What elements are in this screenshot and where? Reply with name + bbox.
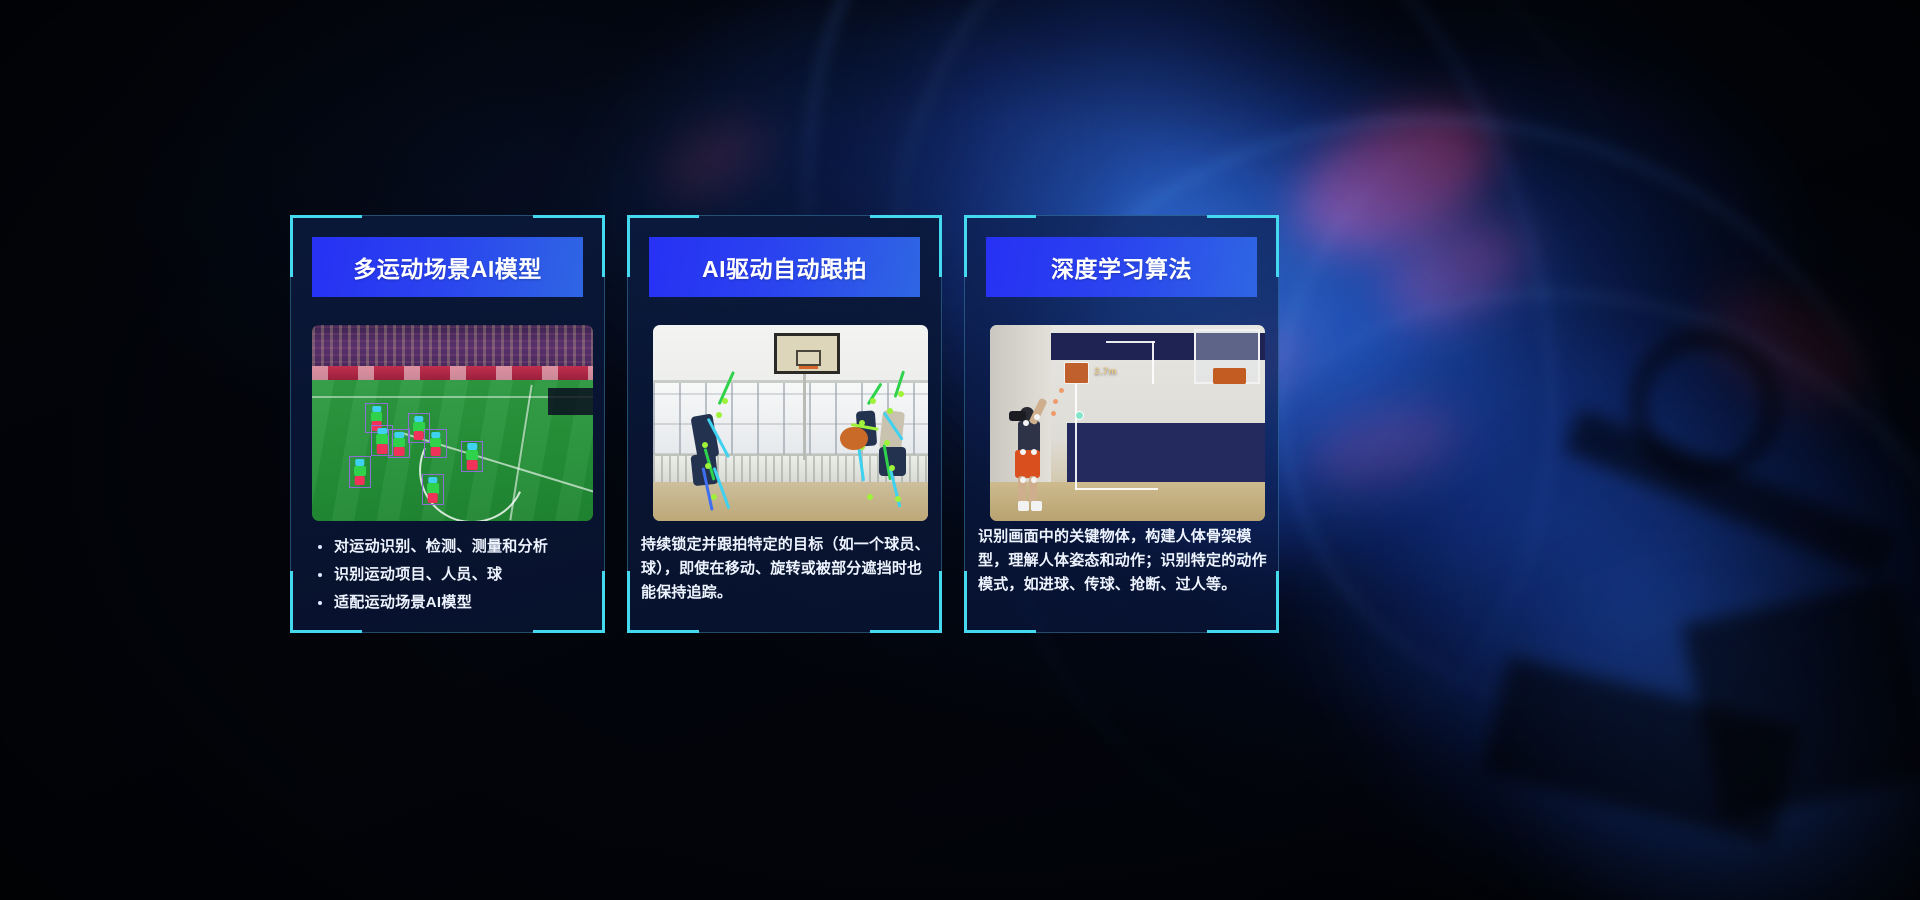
advertising-board <box>312 366 593 380</box>
player-detection-box <box>388 429 410 458</box>
feature-card-multi-sport-ai-model[interactable]: 多运动场景AI模型 <box>290 215 605 633</box>
card-media-soccer-pitch-detection-thumbnail[interactable] <box>312 325 593 521</box>
player-shoe <box>1031 501 1042 511</box>
feature-bullet-list: 对运动识别、检测、测量和分析 识别运动项目、人员、球 适配运动场景AI模型 <box>312 535 589 614</box>
player-shoe <box>1018 501 1029 511</box>
list-item: 识别运动项目、人员、球 <box>312 563 589 586</box>
feature-card-group: 多运动场景AI模型 <box>290 215 1280 633</box>
joint <box>870 398 876 404</box>
shooting-player <box>990 325 1265 521</box>
basketball <box>840 427 868 451</box>
card-body: 持续锁定并跟拍特定的目标（如一个球员、球），即使在移动、旋转或被部分遮挡时也能保… <box>641 533 930 605</box>
card-title-text: 深度学习算法 <box>1051 250 1192 284</box>
list-item: 适配运动场景AI模型 <box>312 591 589 614</box>
pose-skeleton-center <box>653 325 928 521</box>
soccer-pitch-illustration <box>312 325 593 521</box>
scoreboard-badge <box>548 388 593 415</box>
feature-description: 识别画面中的关键物体，构建人体骨架模型，理解人体姿态和动作；识别特定的动作模式，… <box>978 525 1267 597</box>
page-root: 多运动场景AI模型 <box>0 0 1920 900</box>
card-body: 识别画面中的关键物体，构建人体骨架模型，理解人体姿态和动作；识别特定的动作模式，… <box>978 525 1267 597</box>
card-title-text: 多运动场景AI模型 <box>353 250 542 284</box>
joint <box>1020 477 1026 483</box>
joint <box>867 494 873 500</box>
feature-description: 持续锁定并跟拍特定的目标（如一个球员、球），即使在移动、旋转或被部分遮挡时也能保… <box>641 533 930 605</box>
joint <box>1034 414 1040 420</box>
card-title-bar: 深度学习算法 <box>986 237 1257 297</box>
player-detection-box <box>461 441 483 472</box>
joint <box>859 420 865 426</box>
joint <box>1023 420 1029 426</box>
joint <box>1031 477 1037 483</box>
card-title-bar: AI驱动自动跟拍 <box>649 237 920 297</box>
card-title-bar: 多运动场景AI模型 <box>312 237 583 297</box>
player-detection-box <box>422 474 444 505</box>
list-item: 对运动识别、检测、测量和分析 <box>312 535 589 558</box>
joint <box>1031 449 1037 455</box>
card-body: 对运动识别、检测、测量和分析 识别运动项目、人员、球 适配运动场景AI模型 <box>312 535 589 619</box>
bone <box>858 448 866 481</box>
feature-card-ai-auto-tracking-shot[interactable]: AI驱动自动跟拍 <box>627 215 942 633</box>
joint <box>1020 449 1026 455</box>
feature-card-deep-learning-algorithm[interactable]: 深度学习算法 2.7m <box>964 215 1279 633</box>
card-media-basketball-shot-trajectory-thumbnail[interactable]: 2.7m <box>990 325 1265 521</box>
card-title-text: AI驱动自动跟拍 <box>702 250 867 284</box>
basketball-court-illustration: 2.7m <box>990 325 1265 521</box>
card-media-gym-pose-skeleton-thumbnail[interactable] <box>653 325 928 521</box>
player-detection-box <box>424 429 446 458</box>
player-detection-box <box>349 456 371 487</box>
gym-pose-illustration <box>653 325 928 521</box>
